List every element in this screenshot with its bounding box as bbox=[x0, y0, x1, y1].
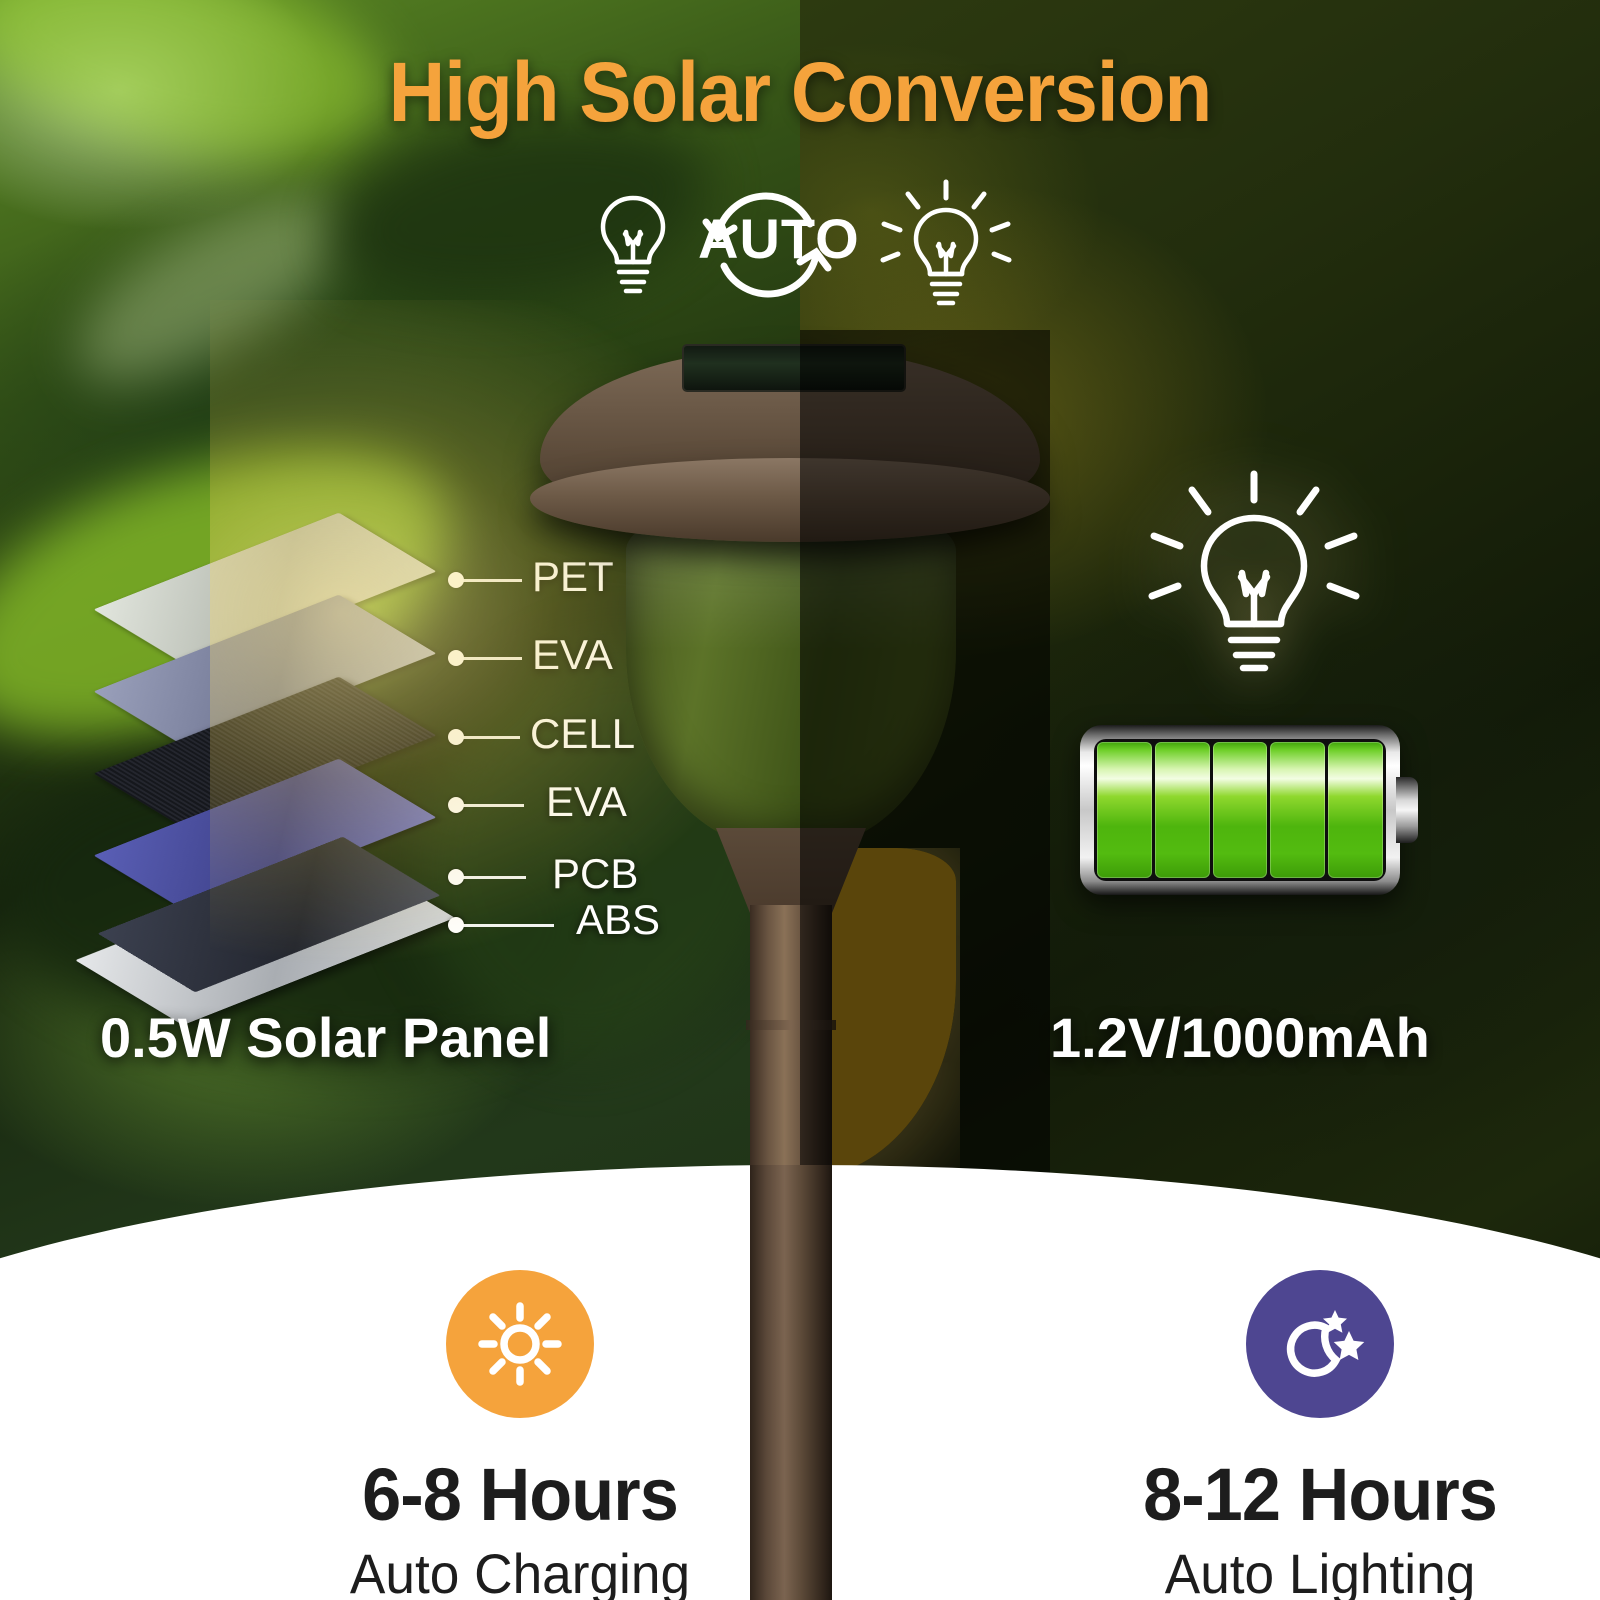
auto-label: AUTO bbox=[698, 206, 860, 271]
battery-terminal bbox=[1396, 777, 1418, 843]
page-title: High Solar Conversion bbox=[56, 44, 1544, 141]
auto-text: AUTO bbox=[698, 207, 860, 270]
battery-cells bbox=[1094, 739, 1386, 881]
leaf-blur-shape bbox=[50, 163, 370, 417]
lamp-pole-lower bbox=[750, 1165, 832, 1600]
callout-line bbox=[462, 736, 520, 739]
feature-auto-lighting: 8-12 Hours Auto Lighting bbox=[800, 1165, 1600, 1600]
callout-line bbox=[462, 804, 524, 807]
battery-bar bbox=[1097, 742, 1152, 878]
battery-shell bbox=[1080, 725, 1400, 895]
battery-caption: 1.2V/1000mAh bbox=[1050, 1005, 1430, 1070]
battery-bar bbox=[1270, 742, 1325, 878]
bulb-lit-large-icon bbox=[1148, 468, 1360, 685]
bulb-off-icon bbox=[590, 192, 676, 302]
solar-panel-caption: 0.5W Solar Panel bbox=[100, 1005, 551, 1070]
auto-mode-icon-row: AUTO bbox=[590, 178, 1020, 308]
battery-bar bbox=[1155, 742, 1210, 878]
lighting-caption: Auto Lighting bbox=[826, 1541, 1600, 1600]
battery-bar bbox=[1328, 742, 1383, 878]
bulb-on-icon bbox=[880, 178, 1012, 310]
layer-pcb bbox=[60, 838, 480, 978]
callout-line bbox=[462, 579, 522, 582]
solar-panel-layer-stack bbox=[60, 520, 540, 980]
battery-bar bbox=[1213, 742, 1268, 878]
lighting-hours: 8-12 Hours bbox=[826, 1452, 1600, 1537]
callout-line bbox=[462, 876, 526, 879]
infographic-canvas: High Solar Conversion AUTO bbox=[0, 0, 1600, 1600]
sun-icon bbox=[446, 1270, 594, 1418]
callout-line bbox=[462, 657, 522, 660]
moon-stars-icon bbox=[1246, 1270, 1394, 1418]
battery-full-icon bbox=[1080, 725, 1400, 895]
